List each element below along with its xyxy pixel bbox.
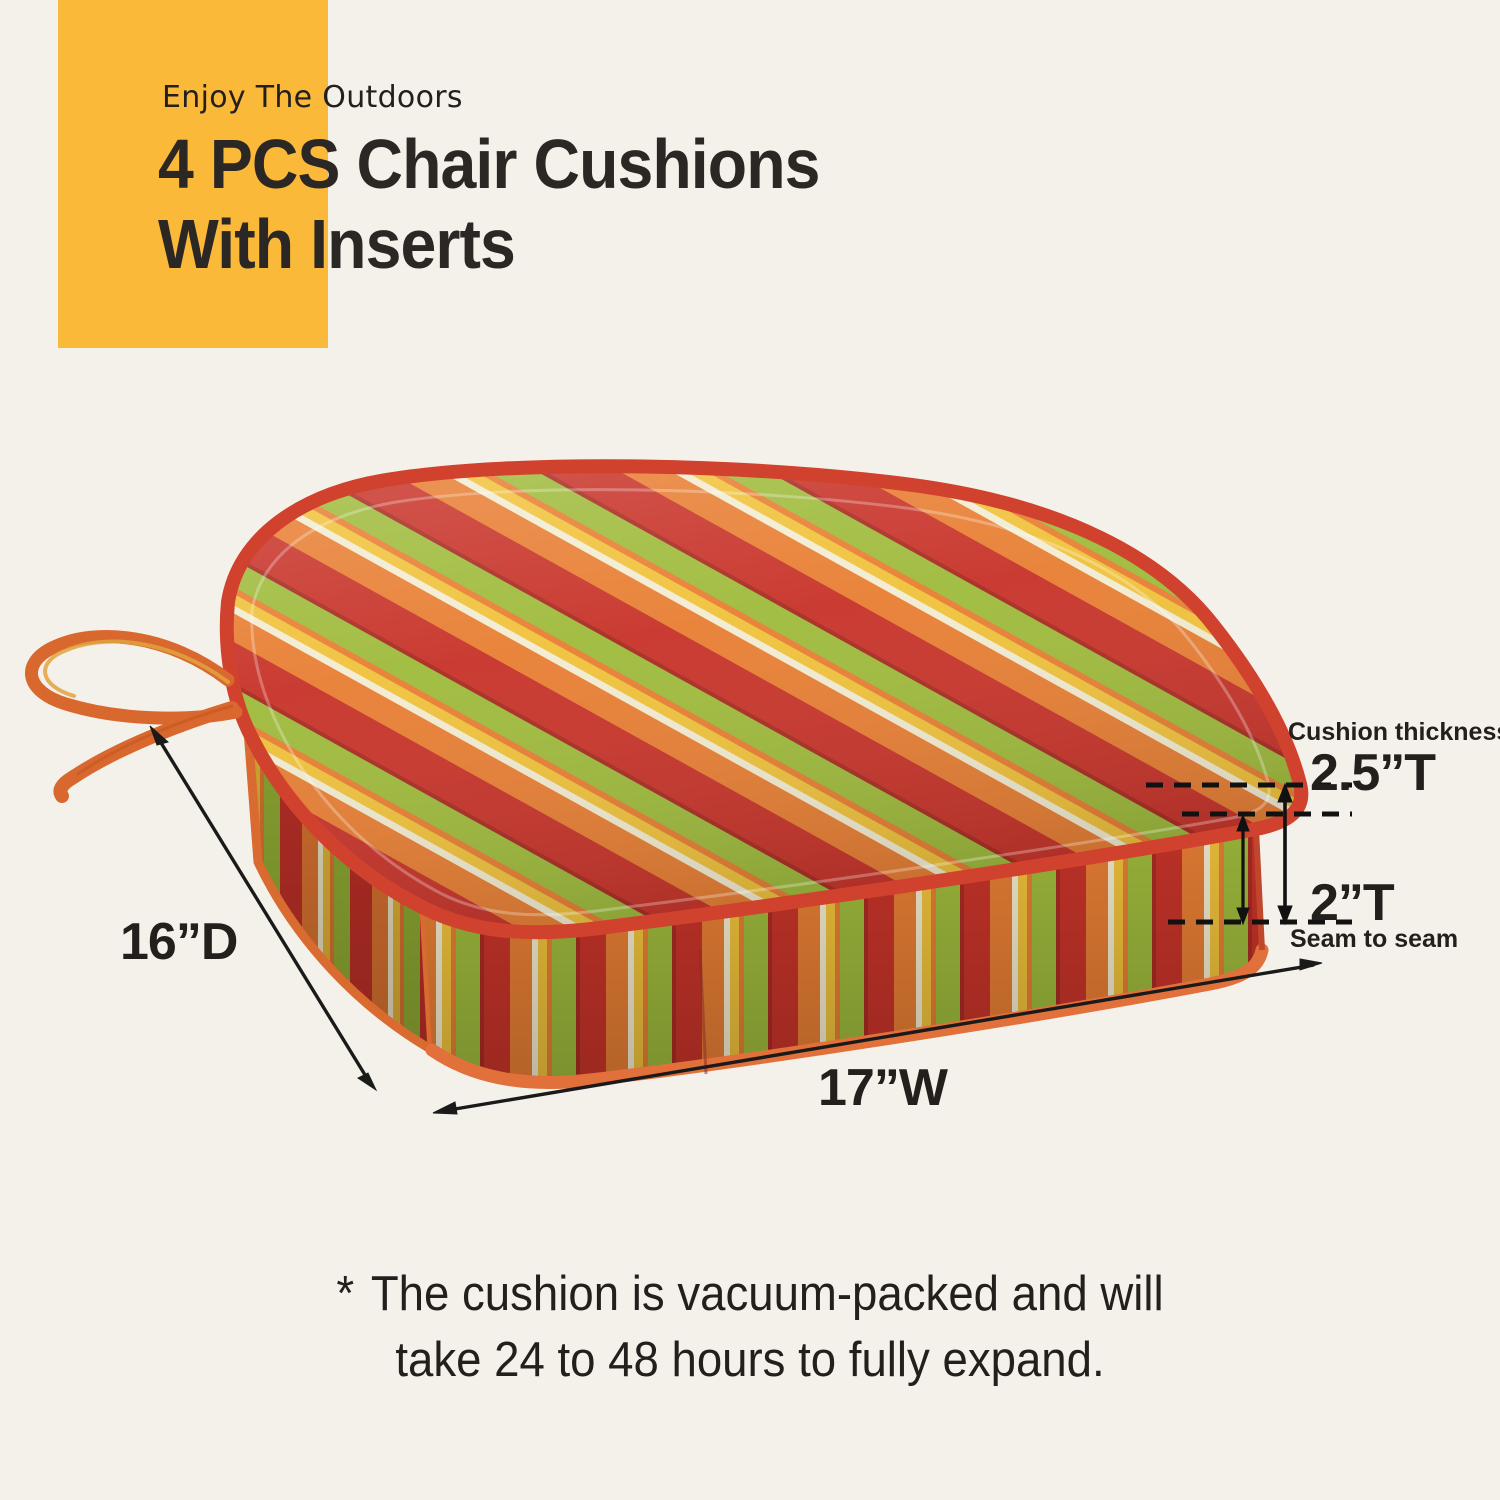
footnote-line-2: take 24 to 48 hours to fully expand. <box>395 1333 1104 1387</box>
width-label: 17”W <box>818 1058 947 1118</box>
tie-strap <box>31 637 236 796</box>
footnote-marker: * <box>336 1267 354 1321</box>
eyebrow-text: Enjoy The Outdoors <box>162 80 463 115</box>
footnote-line-1: The cushion is vacuum-packed and will <box>371 1267 1164 1321</box>
page-title-line-2: With Inserts <box>158 205 986 285</box>
product-illustration <box>0 430 1360 1130</box>
footnote: *The cushion is vacuum-packed and will t… <box>53 1262 1448 1393</box>
page-title: 4 PCS Chair Cushions With Inserts <box>158 125 986 285</box>
page-title-line-1: 4 PCS Chair Cushions <box>158 125 820 203</box>
seam-to-seam-value: 2”T <box>1310 873 1394 933</box>
cushion-thickness-value: 2.5”T <box>1310 743 1435 803</box>
depth-label: 16”D <box>120 912 237 972</box>
infographic-page: Enjoy The Outdoors 4 PCS Chair Cushions … <box>0 0 1500 1500</box>
seam-to-seam-title: Seam to seam <box>1290 925 1458 954</box>
